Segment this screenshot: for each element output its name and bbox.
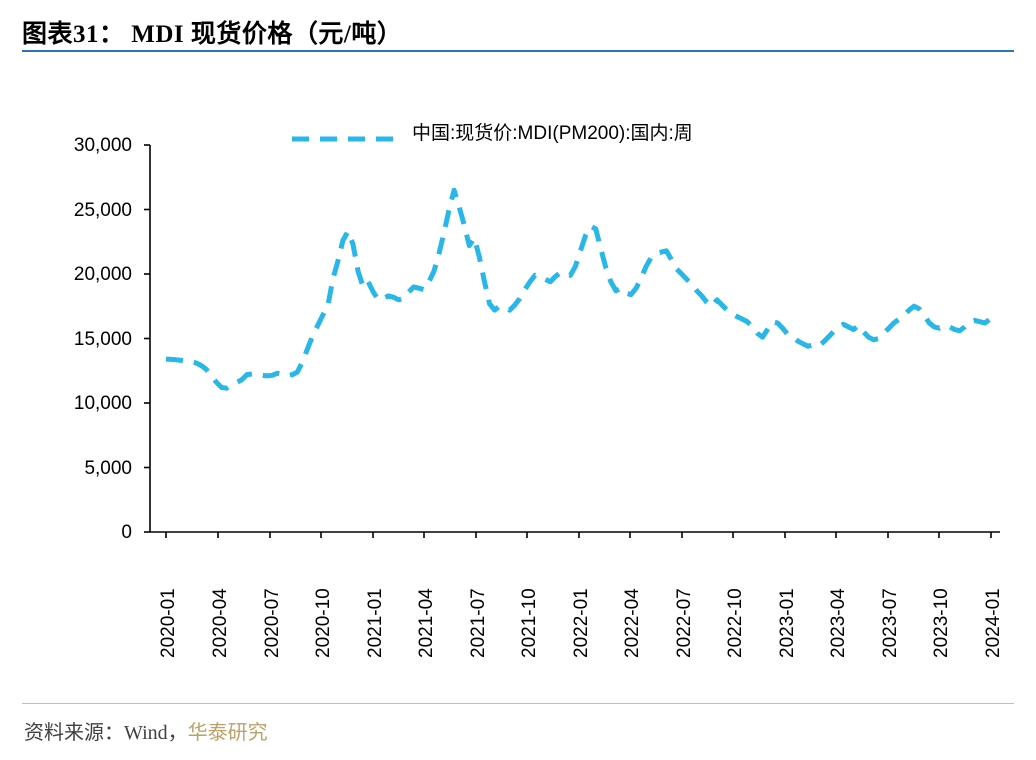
source-label: 资料来源：Wind，: [24, 722, 188, 744]
y-tick-label-5: 25,000: [22, 200, 132, 222]
page-root: 图表31： MDI 现货价格（元/吨） 中国:现货价:MDI(PM200):国内…: [0, 0, 1036, 760]
x-tick-label-5: 2021-04: [416, 588, 438, 658]
x-tick-label-0: 2020-01: [158, 588, 180, 658]
x-tick-label-16: 2024-01: [983, 588, 1005, 658]
y-tick-label-2: 10,000: [22, 393, 132, 415]
chart-container: 中国:现货价:MDI(PM200):国内:周: [0, 60, 1036, 700]
y-tick-label-3: 15,000: [22, 329, 132, 351]
chart-header: 图表31： MDI 现货价格（元/吨）: [22, 14, 1014, 54]
x-tick-label-15: 2023-10: [931, 588, 953, 658]
y-tick-label-4: 20,000: [22, 264, 132, 286]
x-tick-label-4: 2021-01: [365, 588, 387, 658]
x-tick-label-7: 2021-10: [519, 588, 541, 658]
footer-divider: [22, 703, 1014, 704]
x-tick-label-6: 2021-07: [468, 588, 490, 658]
source-note: 资料来源：Wind，华泰研究: [24, 716, 268, 745]
x-tick-label-2: 2020-07: [262, 588, 284, 658]
header-divider: [22, 50, 1014, 52]
x-tick-label-13: 2023-04: [828, 588, 850, 658]
x-tick-label-14: 2023-07: [880, 588, 902, 658]
x-tick-label-12: 2023-01: [777, 588, 799, 658]
page-title: 图表31： MDI 现货价格（元/吨）: [22, 14, 1014, 50]
research-brand: 华泰研究: [188, 722, 268, 744]
x-tick-label-9: 2022-04: [622, 588, 644, 658]
x-tick-label-1: 2020-04: [210, 588, 232, 658]
y-tick-label-6: 30,000: [22, 135, 132, 157]
x-tick-label-10: 2022-07: [674, 588, 696, 658]
x-tick-label-11: 2022-10: [725, 588, 747, 658]
x-tick-marks: [166, 532, 991, 538]
series-line-mdi: [166, 190, 995, 388]
y-tick-label-1: 5,000: [22, 458, 132, 480]
y-tick-marks: [144, 145, 150, 532]
y-tick-label-0: 0: [22, 522, 132, 544]
x-tick-label-3: 2020-10: [313, 588, 335, 658]
x-tick-label-8: 2022-01: [571, 588, 593, 658]
